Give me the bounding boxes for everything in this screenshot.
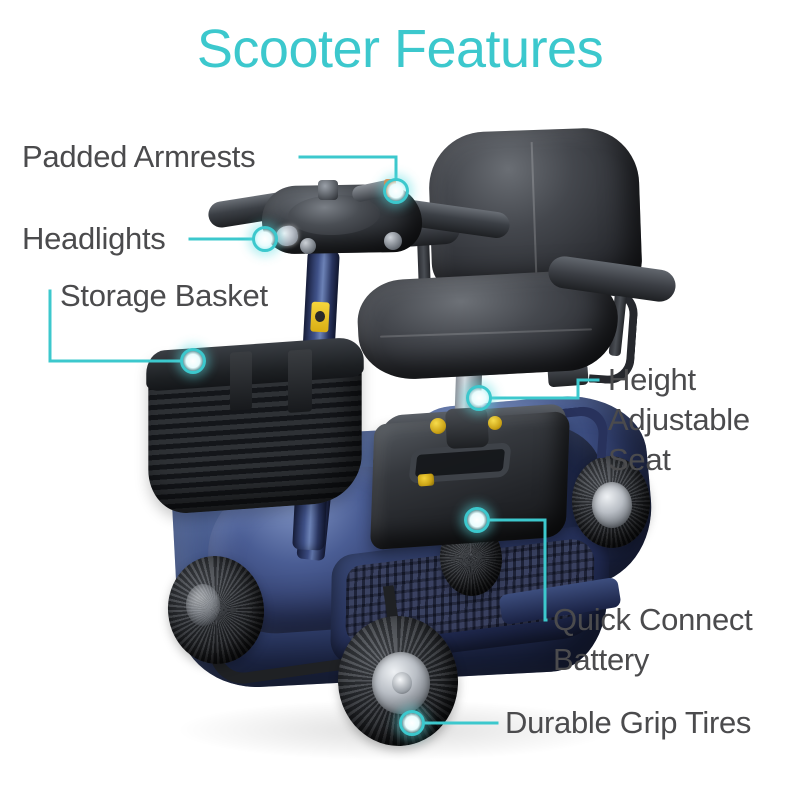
basket-strap-right: [288, 349, 312, 413]
callout-label-storage-basket: Storage Basket: [60, 276, 268, 316]
seat-adjust-knob-left: [430, 418, 446, 434]
front-right-hub-center: [392, 672, 412, 694]
basket-strap-left: [230, 351, 252, 411]
marker-height-adjustable-seat[interactable]: [466, 385, 492, 411]
tiller-warning-sticker: [310, 302, 330, 333]
rear-right-hubcap: [592, 482, 632, 528]
callout-label-durable-grip-tires: Durable Grip Tires: [505, 703, 751, 743]
marker-durable-grip-tires[interactable]: [399, 710, 425, 736]
tiller-bolt-right: [384, 232, 402, 250]
marker-padded-armrests[interactable]: [383, 178, 409, 204]
callout-label-quick-connect-battery: Quick Connect Battery: [553, 600, 752, 680]
marker-quick-connect-battery[interactable]: [464, 507, 490, 533]
speed-dial-knob: [318, 180, 338, 200]
callout-label-headlights: Headlights: [22, 219, 165, 259]
callout-label-padded-armrests: Padded Armrests: [22, 137, 255, 177]
seat-adjust-knob-right: [488, 416, 502, 430]
marker-headlights[interactable]: [252, 226, 278, 252]
callout-label-height-adjustable-seat: Height Adjustable Seat: [608, 360, 750, 480]
scooter-features-infographic: Scooter Features: [0, 0, 800, 800]
seat-height-clamp: [445, 407, 489, 449]
front-left-hubcap: [186, 584, 220, 626]
marker-storage-basket[interactable]: [180, 348, 206, 374]
battery-latch: [418, 473, 435, 486]
tiller-bolt-left: [300, 238, 316, 254]
